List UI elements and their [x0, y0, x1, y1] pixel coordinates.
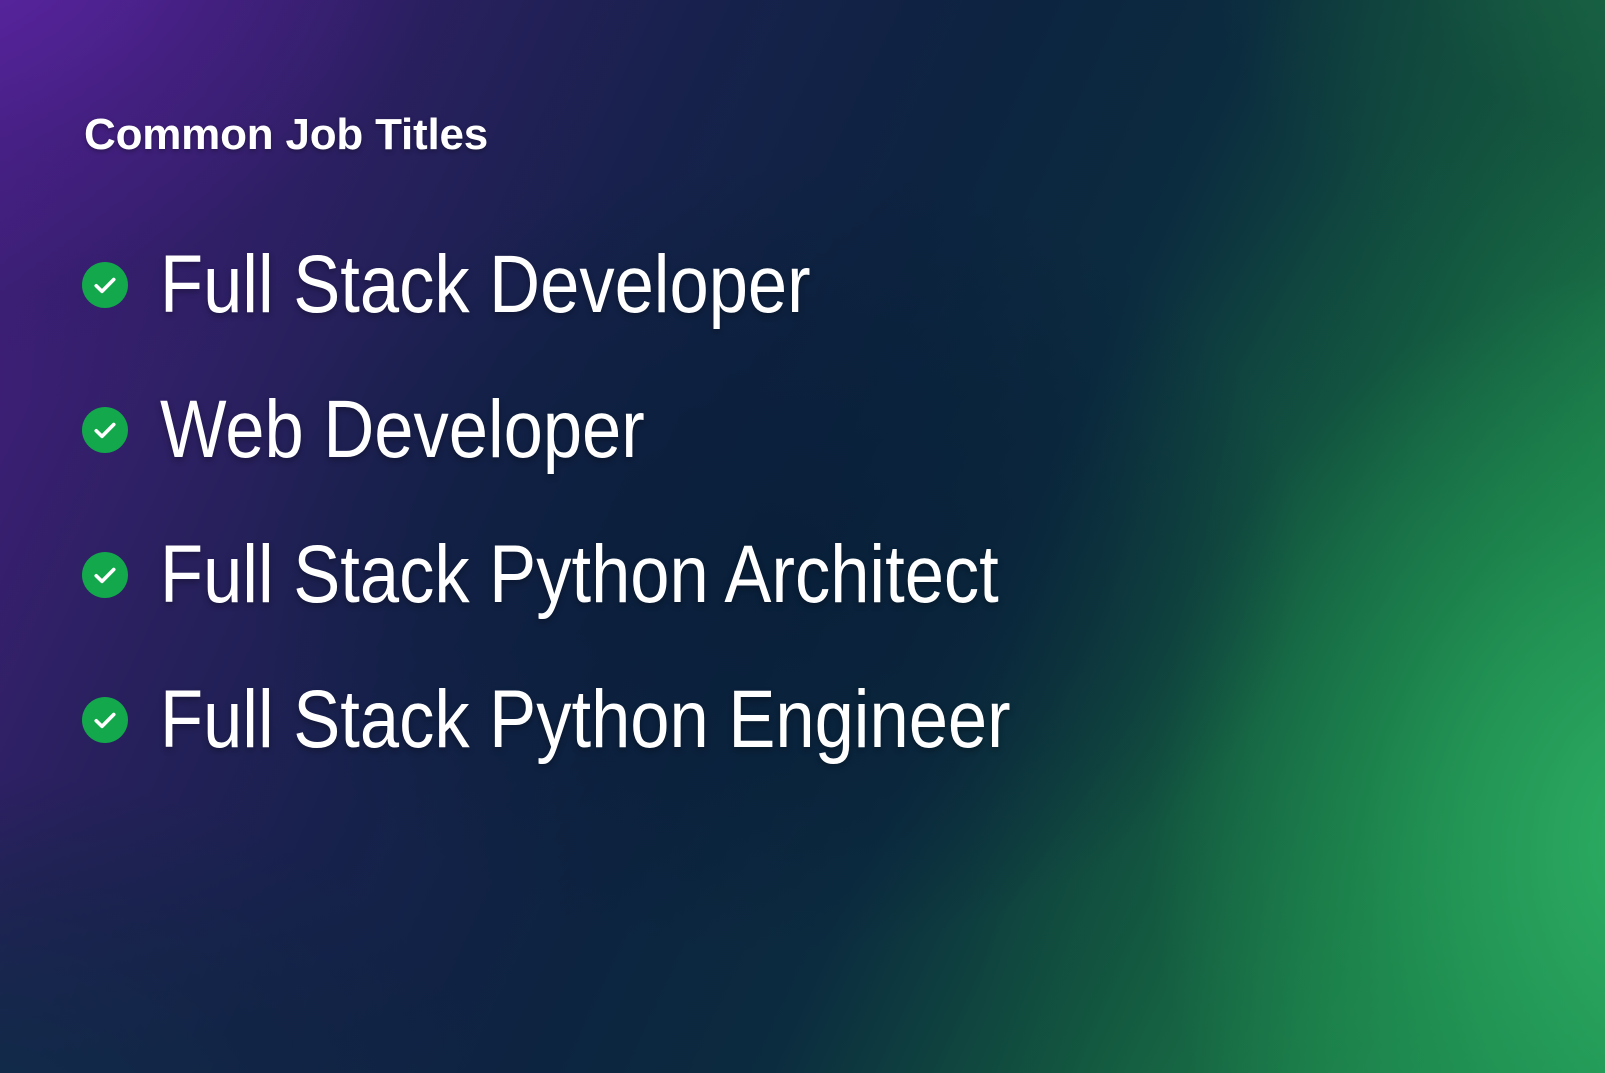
list-item: Full Stack Python Architect	[82, 526, 1542, 624]
check-circle-icon	[82, 697, 128, 743]
job-title-label: Full Stack Python Engineer	[160, 672, 1011, 768]
check-circle-icon	[82, 262, 128, 308]
page-title: Common Job Titles	[84, 110, 488, 160]
job-titles-slide: Common Job Titles Full Stack Developer W…	[0, 0, 1605, 1073]
job-title-label: Web Developer	[160, 382, 645, 478]
list-item: Full Stack Python Engineer	[82, 671, 1542, 769]
list-item: Web Developer	[82, 381, 1542, 479]
check-circle-icon	[82, 407, 128, 453]
slide-content: Common Job Titles Full Stack Developer W…	[0, 0, 1605, 1073]
list-item: Full Stack Developer	[82, 236, 1542, 334]
job-title-label: Full Stack Developer	[160, 237, 811, 333]
job-title-label: Full Stack Python Architect	[160, 527, 999, 623]
job-titles-list: Full Stack Developer Web Developer Full …	[82, 236, 1542, 769]
check-circle-icon	[82, 552, 128, 598]
